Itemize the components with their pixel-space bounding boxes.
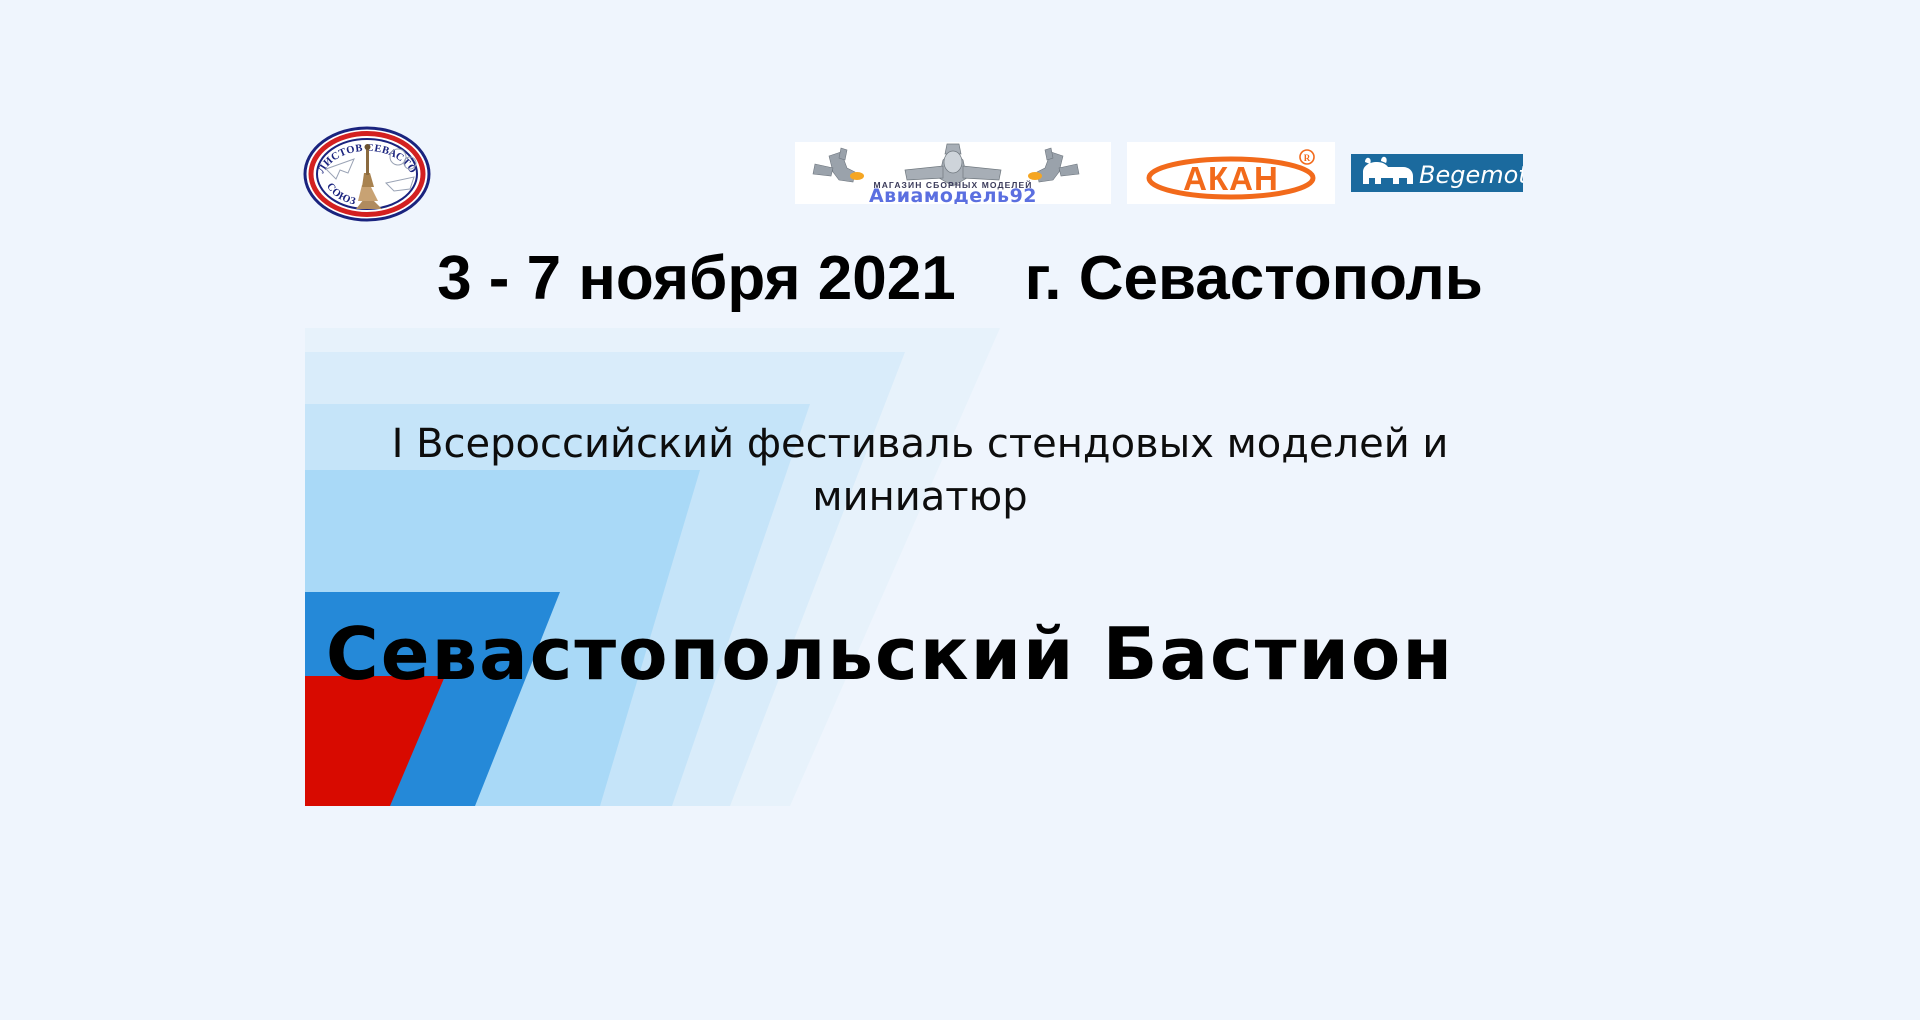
presentation-slide: МОДЕЛИСТОВ СЕВАСТОПОЛЯ СОЮЗ [0, 0, 1920, 1020]
afterburner-left-icon [850, 172, 864, 180]
sponsor-name: Begemot [1419, 161, 1523, 189]
sponsor-logo-begemot[interactable]: Begemot [1351, 154, 1523, 192]
svg-text:R: R [1304, 153, 1311, 163]
event-title: Севастопольский Бастион [300, 612, 1480, 696]
sponsor-logo-akan[interactable]: АКАН R [1127, 142, 1335, 204]
festival-subtitle-line-1: I Всероссийский фестиваль стендовых моде… [392, 421, 1449, 467]
organizer-emblem-icon: МОДЕЛИСТОВ СЕВАСТОПОЛЯ СОЮЗ [302, 125, 432, 223]
sponsor-name: Авиамодель92 [869, 185, 1037, 204]
afterburner-right-icon [1028, 172, 1042, 180]
sponsor-name: АКАН [1183, 160, 1279, 197]
sponsor-logo-aviamodel92[interactable]: МАГАЗИН СБОРНЫХ МОДЕЛЕЙ Авиамодель92 [795, 142, 1111, 204]
flag-band-pale-4 [305, 328, 1000, 806]
festival-subtitle: I Всероссийский фестиваль стендовых моде… [360, 418, 1480, 524]
sponsor-logo-strip: МАГАЗИН СБОРНЫХ МОДЕЛЕЙ Авиамодель92 АКА… [795, 142, 1523, 204]
date-and-location-heading: 3 - 7 ноября 2021 г. Севастополь [0, 243, 1920, 314]
festival-subtitle-line-2: миниатюр [812, 474, 1027, 520]
